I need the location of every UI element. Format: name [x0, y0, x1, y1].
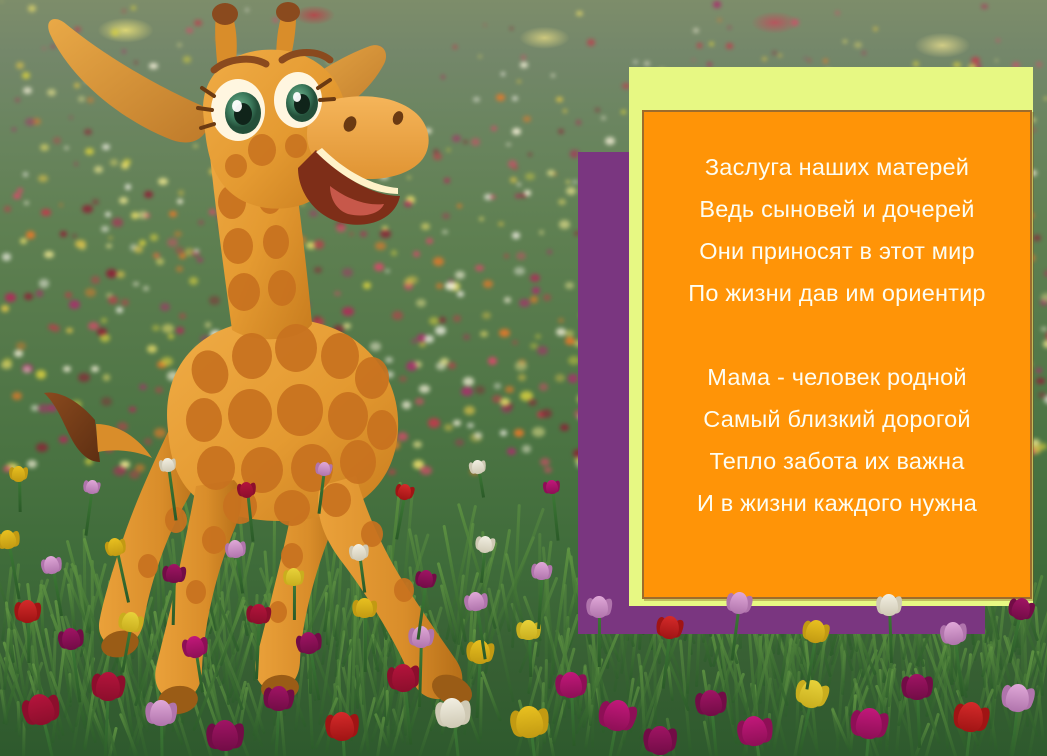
tulip: [559, 672, 582, 700]
poem-text-block: Заслуга наших матерей Ведь сыновей и доч…: [644, 146, 1030, 524]
poem-line: По жизни дав им ориентир: [644, 272, 1030, 314]
tulip: [648, 726, 673, 756]
giraffe-tail: [44, 392, 152, 462]
tulip: [601, 698, 632, 735]
slide-canvas: Заслуга наших матерей Ведь сыновей и доч…: [0, 0, 1047, 756]
tulip: [729, 591, 750, 616]
tulip: [1010, 596, 1032, 622]
poem-line: Заслуга наших матерей: [644, 146, 1030, 188]
poem-card: Заслуга наших матерей Ведь сыновей и доч…: [642, 110, 1032, 599]
stanza-gap: [644, 314, 1030, 356]
tulip: [351, 543, 367, 562]
tulip: [120, 611, 140, 635]
tulip: [699, 689, 723, 718]
tulip: [880, 594, 899, 617]
poem-line: Самый близкий дорогой: [644, 398, 1030, 440]
tulip: [412, 626, 431, 649]
tulip: [477, 535, 493, 554]
tulip: [438, 697, 466, 731]
tulip: [85, 479, 99, 495]
tulip: [161, 457, 175, 473]
tulip: [61, 627, 82, 652]
poem-line: Ведь сыновей и дочерей: [644, 188, 1030, 230]
tulip: [469, 639, 490, 665]
tulip: [533, 562, 549, 582]
tulip: [804, 619, 827, 646]
tulip: [317, 461, 331, 477]
tulip: [227, 539, 244, 560]
tulip: [250, 604, 268, 626]
giraffe-eye-right: [274, 72, 322, 128]
giraffe-ear-left: [48, 19, 212, 142]
tulip: [106, 537, 125, 559]
tulip: [417, 569, 434, 590]
poem-line: Мама - человек родной: [644, 356, 1030, 398]
tulip: [166, 564, 183, 584]
giraffe-eye-left: [211, 79, 265, 141]
tulip: [467, 591, 486, 613]
poem-line: Они приносят в этот мир: [644, 230, 1030, 272]
tulip: [391, 663, 417, 694]
poem-line: И в жизни каждого нужна: [644, 482, 1030, 524]
tulip: [95, 671, 120, 702]
tulip: [267, 685, 290, 712]
tulip: [356, 598, 373, 619]
tulip: [329, 711, 355, 742]
tulip: [298, 631, 319, 656]
tulip: [25, 691, 58, 729]
tulip: [18, 600, 37, 624]
tulip: [797, 678, 826, 711]
tulip: [150, 700, 172, 728]
tulip: [956, 701, 984, 735]
poem-line: Тепло забота их важна: [644, 440, 1030, 482]
tulip: [1004, 683, 1030, 714]
tulip: [514, 705, 545, 742]
tulip: [12, 466, 25, 482]
tulip: [0, 529, 18, 552]
tulip: [906, 674, 929, 702]
tulip: [42, 555, 60, 576]
tulip: [545, 479, 559, 495]
tulip: [397, 483, 413, 501]
tulip: [740, 714, 769, 748]
tulip: [239, 481, 254, 499]
tulip: [471, 459, 485, 476]
tulip: [211, 720, 238, 753]
tulip: [855, 707, 884, 742]
tulip: [659, 615, 681, 641]
tulip: [184, 635, 205, 660]
tulip: [520, 620, 538, 642]
tulip: [590, 596, 608, 619]
tulip: [943, 621, 965, 647]
tulip: [286, 568, 301, 587]
